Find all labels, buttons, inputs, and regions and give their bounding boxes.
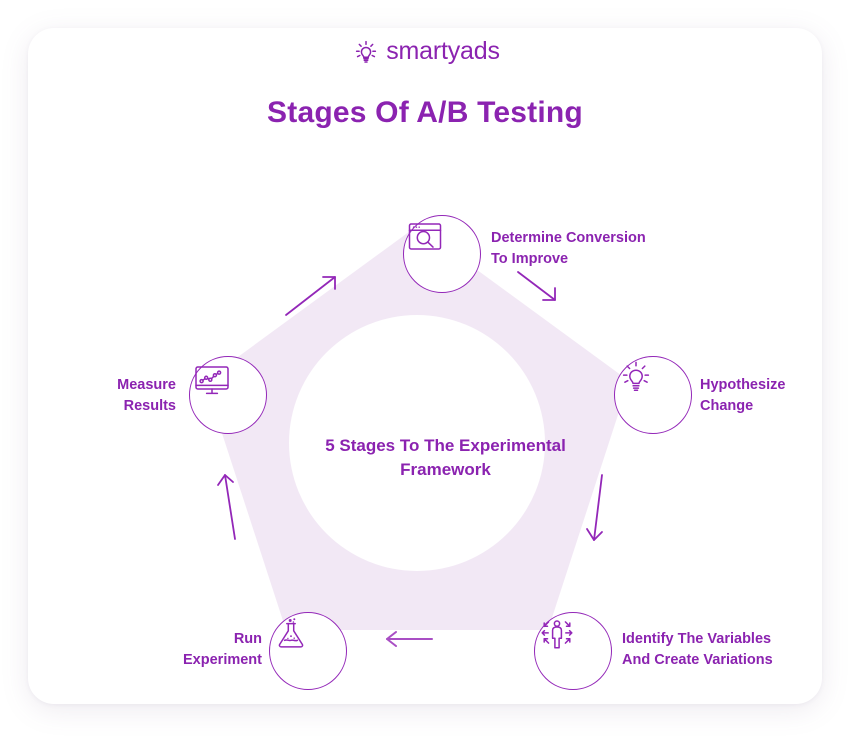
pentagon-cycle-diagram: 5 Stages To The Experimental Framework D… xyxy=(28,28,822,704)
stage-label-hypothesize-change: Hypothesize Change xyxy=(700,375,850,417)
stage-label-line-2: And Create Variations xyxy=(622,650,842,671)
stage-label-run-experiment: Run Experiment xyxy=(88,629,262,671)
stage-label-line-1: Determine Conversion xyxy=(491,228,711,249)
stage-label-identify-variables: Identify The Variables And Create Variat… xyxy=(622,629,842,671)
center-line-3: Framework xyxy=(400,460,491,479)
stage-label-line-1: Hypothesize xyxy=(700,375,850,396)
stage-label-line-1: Identify The Variables xyxy=(622,629,842,650)
pentagon-shape-layer xyxy=(28,28,822,704)
stage-node-hypothesize-change[interactable] xyxy=(614,356,692,434)
center-label: 5 Stages To The Experimental Framework xyxy=(318,434,573,482)
stage-label-line-2: Change xyxy=(700,396,850,417)
stage-label-determine-conversion: Determine Conversion To Improve xyxy=(491,228,711,270)
stage-node-identify-variables[interactable] xyxy=(534,612,612,690)
stage-label-measure-results: Measure Results xyxy=(64,375,176,417)
center-line-1: 5 Stages xyxy=(325,436,395,455)
stage-label-line-2: To Improve xyxy=(491,249,711,270)
infographic-canvas: smartyads Stages Of A/B Testing xyxy=(0,0,850,740)
stage-node-run-experiment[interactable] xyxy=(269,612,347,690)
stage-node-determine-conversion[interactable] xyxy=(403,215,481,293)
stage-node-measure-results[interactable] xyxy=(189,356,267,434)
stage-label-line-1: Measure xyxy=(64,375,176,396)
center-line-2: To The Experimental xyxy=(400,436,566,455)
stage-label-line-1: Run xyxy=(88,629,262,650)
stage-label-line-2: Experiment xyxy=(88,650,262,671)
stage-label-line-2: Results xyxy=(64,396,176,417)
